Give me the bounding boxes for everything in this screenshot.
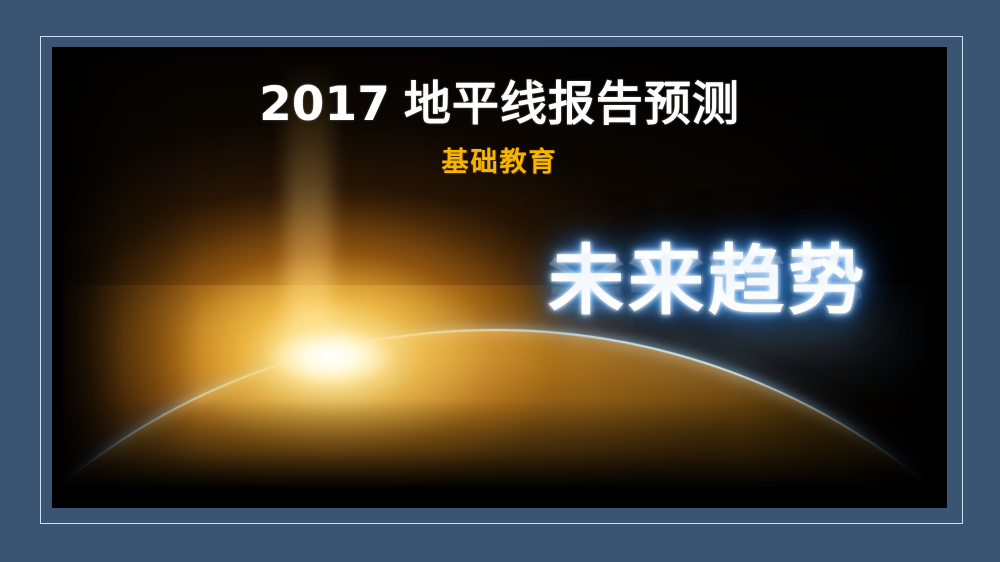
headline-block: 2017地平线报告预测 基础教育 <box>52 80 947 179</box>
slide-stage: 2017地平线报告预测 基础教育 未来趋势 未来趋势 <box>52 47 947 508</box>
slide-title: 2017地平线报告预测 <box>52 80 947 131</box>
slide-title-year: 2017 <box>259 77 390 132</box>
sun-core <box>266 325 396 389</box>
trend-wordmark-reflection: 未来趋势 <box>508 249 908 325</box>
slide-title-text: 地平线报告预测 <box>404 77 740 132</box>
trend-wordmark-group: 未来趋势 未来趋势 <box>508 243 908 401</box>
presentation-canvas: 2017地平线报告预测 基础教育 未来趋势 未来趋势 <box>0 0 1000 562</box>
slide-subtitle: 基础教育 <box>52 140 947 179</box>
